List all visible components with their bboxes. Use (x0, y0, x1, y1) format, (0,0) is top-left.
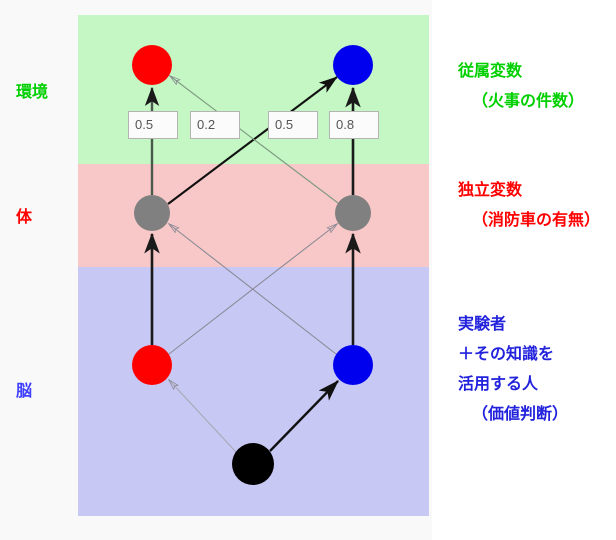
environment-node-blue[interactable] (333, 45, 373, 85)
tier-panel (78, 15, 429, 516)
edge-weight-box[interactable]: 0.5 (128, 111, 178, 139)
body-node-gray-right[interactable] (335, 195, 371, 231)
tier-label-environment: 環境 (16, 78, 48, 102)
brain-node-black[interactable] (232, 443, 274, 485)
annotation-line: ＋その知識を (458, 340, 568, 370)
tier-label-brain: 脳 (16, 377, 32, 401)
environment-node-red[interactable] (132, 45, 172, 85)
edge-weight-box[interactable]: 0.5 (268, 111, 318, 139)
brain-node-blue[interactable] (333, 345, 373, 385)
tier-label-body: 体 (16, 203, 32, 227)
annotation-dependent-variable: 従属変数 （火事の件数） (458, 57, 584, 117)
annotation-experimenter: 実験者 ＋その知識を 活用する人 （価値判断） (458, 310, 568, 430)
annotation-line: 従属変数 (458, 57, 584, 87)
edge-weight-box[interactable]: 0.2 (190, 111, 240, 139)
annotation-line: 独立変数 (458, 176, 600, 206)
annotation-line: （価値判断） (458, 400, 568, 430)
band-environment (78, 15, 429, 164)
annotation-independent-variable: 独立変数 （消防車の有無） (458, 176, 600, 236)
annotation-line: （消防車の有無） (458, 206, 600, 236)
annotation-line: 活用する人 (458, 370, 568, 400)
edge-weight-box[interactable]: 0.8 (329, 111, 379, 139)
diagram-canvas: 0.5 0.2 0.5 0.8 環境 体 脳 従属変数 （火事の件数） 独立変数… (0, 0, 616, 540)
brain-node-red[interactable] (132, 345, 172, 385)
band-body (78, 164, 429, 267)
annotation-line: 実験者 (458, 310, 568, 340)
body-node-gray-left[interactable] (134, 195, 170, 231)
annotation-line: （火事の件数） (458, 87, 584, 117)
